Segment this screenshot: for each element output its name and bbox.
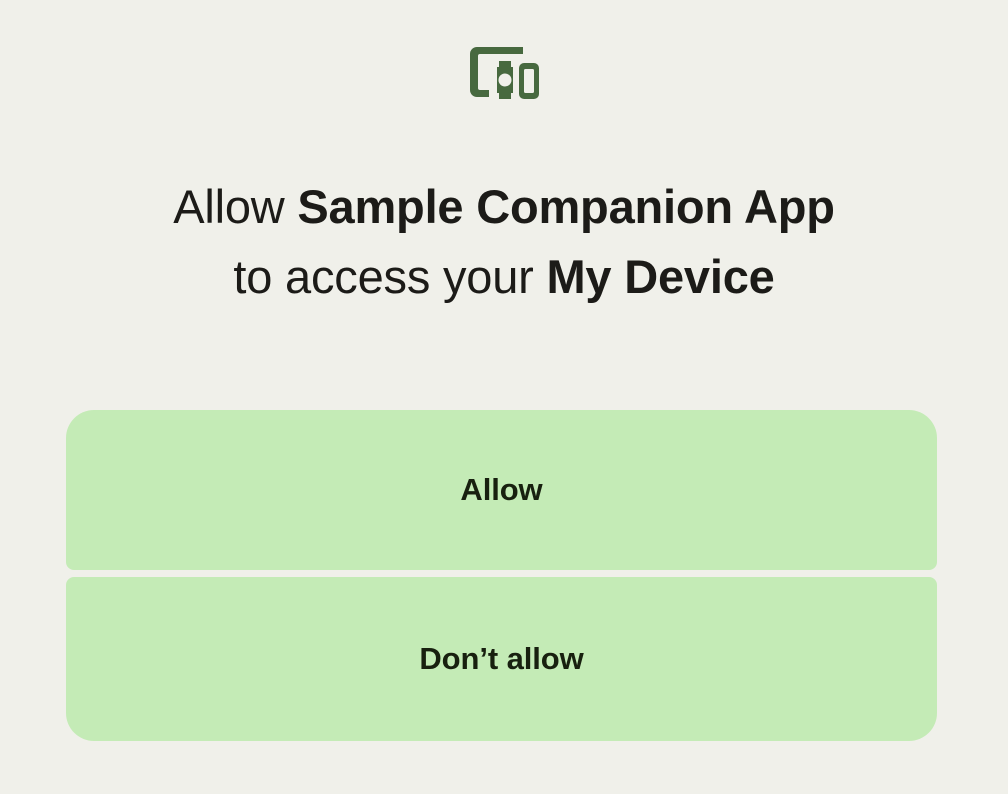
title-app-name: Sample Companion App [297,180,834,233]
dialog-title: Allow Sample Companion App to access you… [0,172,1008,312]
dialog-title-line-2: to access your My Device [0,242,1008,312]
allow-button-label: Allow [460,472,542,508]
dialog-title-line-1: Allow Sample Companion App [0,172,1008,242]
allow-button[interactable]: Allow [66,410,937,570]
dont-allow-button[interactable]: Don’t allow [66,577,937,741]
devices-other-icon [467,43,541,107]
association-request-dialog: Allow Sample Companion App to access you… [0,0,1008,794]
dialog-icon-container [0,40,1008,110]
dont-allow-button-label: Don’t allow [419,641,583,677]
dialog-button-group: Allow Don’t allow [66,410,937,741]
title-prefix-allow: Allow [173,180,297,233]
title-device-name: My Device [546,250,774,303]
title-prefix-access: to access your [233,250,546,303]
